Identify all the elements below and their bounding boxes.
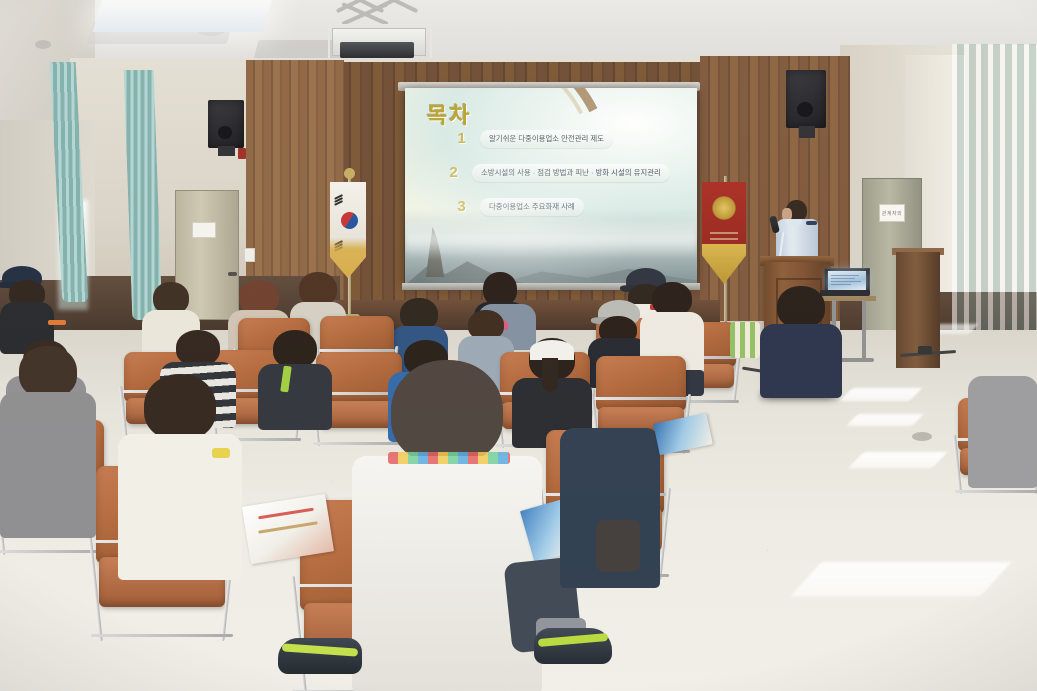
flag-emblem-icon (712, 196, 736, 220)
slide-item-number: 3 (451, 196, 472, 217)
speaker-bracket (218, 146, 235, 156)
slide-mist-layer (405, 219, 697, 259)
door-sign (192, 222, 216, 238)
wall-speaker-icon (786, 70, 826, 128)
sunlight-patch (848, 452, 947, 468)
door-sign-label: 관계자외 (882, 210, 902, 217)
slide-item: 3 다중이용업소 주요화재 사례 (451, 196, 584, 217)
ponytail (542, 358, 558, 392)
photograph-scene: 관계자외 목차 1 알기쉬운 다중이용업소 안전관리 제도 2 소방시설의 사용… (0, 0, 1037, 691)
door-sign: 관계자외 (879, 204, 905, 222)
collar-stripe (388, 452, 510, 464)
patterned-top (730, 322, 760, 358)
projector-icon (340, 42, 414, 58)
wall-speaker-icon (208, 100, 244, 148)
bag (596, 520, 640, 572)
audience-member (760, 286, 842, 396)
slide-item: 2 소방시설의 사용 · 점검 방법과 피난 · 방화 시설의 유지관리 (443, 162, 670, 183)
slide-item: 1 알기쉬운 다중이용업소 안전관리 제도 (451, 128, 613, 149)
ceiling-light-panel (93, 0, 274, 32)
flag-lettering (710, 232, 738, 246)
slide-item-number: 2 (443, 162, 464, 183)
flag-finial (344, 168, 355, 179)
hair-clip (48, 320, 66, 325)
wall-outlet-icon (244, 248, 255, 262)
audience-member (0, 346, 96, 536)
speaker-bracket (799, 126, 815, 138)
audience-member (968, 366, 1037, 486)
uniform-epaulette (806, 221, 817, 225)
ceiling-speaker-icon (35, 40, 51, 49)
wristband (212, 448, 230, 458)
sunlight-patch (840, 388, 923, 401)
slide-item-number: 1 (451, 128, 472, 149)
cable-plug-icon (918, 346, 932, 354)
audience-member (118, 374, 242, 574)
door-handle-icon[interactable] (228, 272, 237, 276)
sunlight-patch (791, 562, 1012, 596)
projection-screen: 목차 1 알기쉬운 다중이용업소 안전관리 제도 2 소방시설의 사용 · 점검… (405, 88, 697, 285)
slide-item-text: 알기쉬운 다중이용업소 안전관리 제도 (480, 130, 613, 148)
audience-member (258, 330, 332, 428)
slide-item-text: 소방시설의 사용 · 점검 방법과 피난 · 방화 시설의 유지관리 (472, 164, 670, 182)
hair-band (530, 340, 574, 360)
floor-outlet-icon (912, 432, 932, 441)
slide-item-text: 다중이용업소 주요화재 사례 (480, 198, 584, 216)
alarm-light-icon (238, 148, 246, 159)
sunlight-patch (846, 414, 924, 426)
table-leg (862, 300, 866, 362)
slide-title: 목차 (427, 98, 471, 130)
